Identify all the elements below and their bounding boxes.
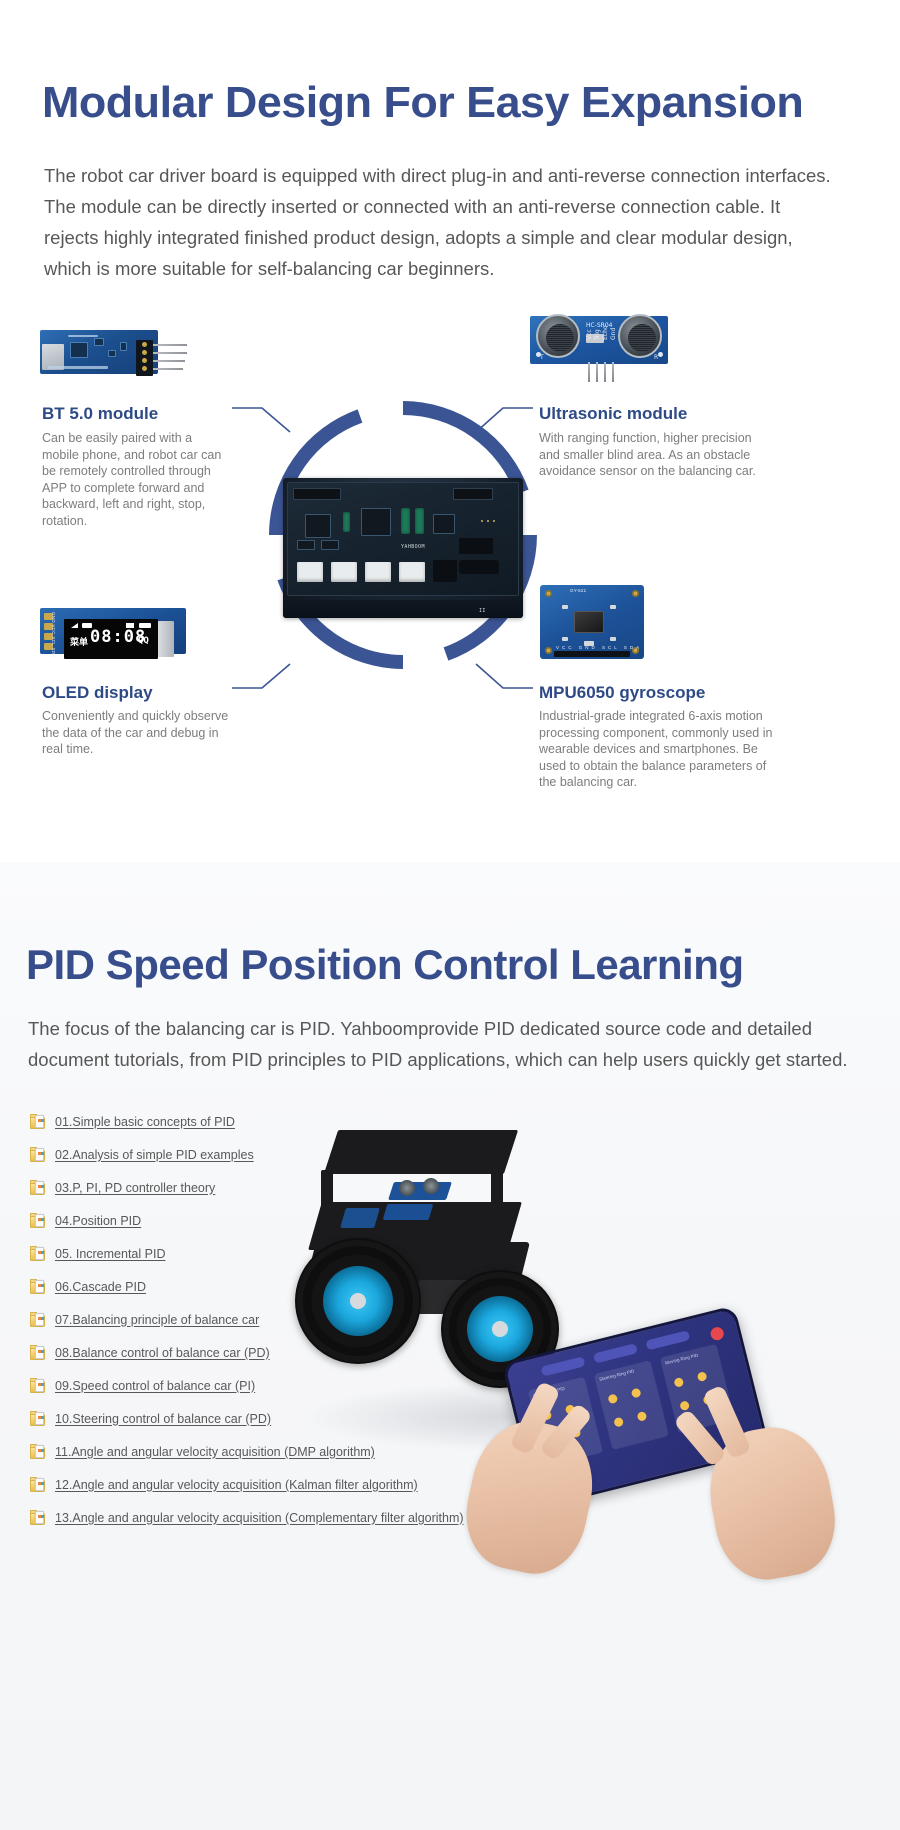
bt-module-photo [40, 322, 190, 380]
doc-link[interactable]: 02.Analysis of simple PID examples [55, 1148, 254, 1162]
bt-module-title: BT 5.0 module [42, 404, 158, 424]
oled-pin-labels: GND VCC SCL SDA [51, 612, 56, 658]
doc-link[interactable]: 07.Balancing principle of balance car [55, 1313, 259, 1327]
oled-module-photo: GND VCC SCL SDA 菜单 08:08 QQ [40, 600, 196, 662]
list-item[interactable]: 10.Steering control of balance car (PD) [30, 1402, 550, 1435]
doc-link[interactable]: 08.Balance control of balance car (PD) [55, 1346, 270, 1360]
oled-screen-qq: QQ [138, 636, 149, 646]
folder-icon [30, 1147, 46, 1163]
mpu6050-module-title: MPU6050 gyroscope [539, 683, 705, 703]
mpu6050-module-description: Industrial-grade integrated 6-axis motio… [539, 708, 774, 791]
folder-icon [30, 1312, 46, 1328]
doc-link[interactable]: 05. Incremental PID [55, 1247, 165, 1261]
pid-intro-paragraph: The focus of the balancing car is PID. Y… [28, 1013, 848, 1075]
ultrasonic-module-title: Ultrasonic module [539, 404, 687, 424]
doc-link[interactable]: 01.Simple basic concepts of PID [55, 1115, 235, 1129]
doc-link[interactable]: 13.Angle and angular velocity acquisitio… [55, 1511, 464, 1525]
modular-intro-paragraph: The robot car driver board is equipped w… [44, 160, 834, 284]
doc-link[interactable]: 12.Angle and angular velocity acquisitio… [55, 1478, 418, 1492]
list-item[interactable]: 03.P, PI, PD controller theory [30, 1171, 550, 1204]
list-item[interactable]: 04.Position PID [30, 1204, 550, 1237]
ultrasonic-module-photo: HC-SR04 T R Vcc Trig Echo Gnd [530, 312, 680, 384]
modular-design-section: Modular Design For Easy Expansion The ro… [0, 0, 900, 1010]
folder-icon [30, 1213, 46, 1229]
folder-icon [30, 1378, 46, 1394]
mpu6050-module-photo: GY-521 VCC GND SCL SDA [540, 585, 644, 663]
folder-icon [30, 1477, 46, 1493]
doc-link[interactable]: 06.Cascade PID [55, 1280, 146, 1294]
pid-learning-section: PID Speed Position Control Learning The … [0, 862, 900, 1830]
list-item[interactable]: 05. Incremental PID [30, 1237, 550, 1270]
folder-icon [30, 1444, 46, 1460]
folder-icon [30, 1180, 46, 1196]
folder-icon [30, 1345, 46, 1361]
doc-link[interactable]: 04.Position PID [55, 1214, 141, 1228]
doc-link[interactable]: 03.P, PI, PD controller theory [55, 1181, 215, 1195]
doc-link[interactable]: 11.Angle and angular velocity acquisitio… [55, 1445, 375, 1459]
list-item[interactable]: 08.Balance control of balance car (PD) [30, 1336, 550, 1369]
page-title: Modular Design For Easy Expansion [42, 78, 803, 128]
doc-link[interactable]: 10.Steering control of balance car (PD) [55, 1412, 271, 1426]
list-item[interactable]: 07.Balancing principle of balance car [30, 1303, 550, 1336]
oled-module-title: OLED display [42, 683, 153, 703]
folder-icon [30, 1411, 46, 1427]
bt-module-description: Can be easily paired with a mobile phone… [42, 430, 232, 529]
folder-icon [30, 1246, 46, 1262]
driver-board-image: YAHBOOM II [283, 478, 523, 618]
doc-link[interactable]: 09.Speed control of balance car (PI) [55, 1379, 255, 1393]
board-silkscreen-text: YAHBOOM [401, 544, 425, 550]
list-item[interactable]: 02.Analysis of simple PID examples [30, 1138, 550, 1171]
folder-icon [30, 1114, 46, 1130]
pid-section-title: PID Speed Position Control Learning [26, 941, 744, 989]
oled-module-description: Conveniently and quickly observe the dat… [42, 708, 237, 758]
folder-icon [30, 1510, 46, 1526]
folder-icon [30, 1279, 46, 1295]
pid-document-list: 01.Simple basic concepts of PID 02.Analy… [30, 1105, 550, 1534]
record-button[interactable] [709, 1326, 725, 1342]
list-item[interactable]: 09.Speed control of balance car (PI) [30, 1369, 550, 1402]
list-item[interactable]: 01.Simple basic concepts of PID [30, 1105, 550, 1138]
ultrasonic-module-description: With ranging function, higher precision … [539, 430, 764, 480]
list-item[interactable]: 06.Cascade PID [30, 1270, 550, 1303]
list-item[interactable]: 11.Angle and angular velocity acquisitio… [30, 1435, 550, 1468]
